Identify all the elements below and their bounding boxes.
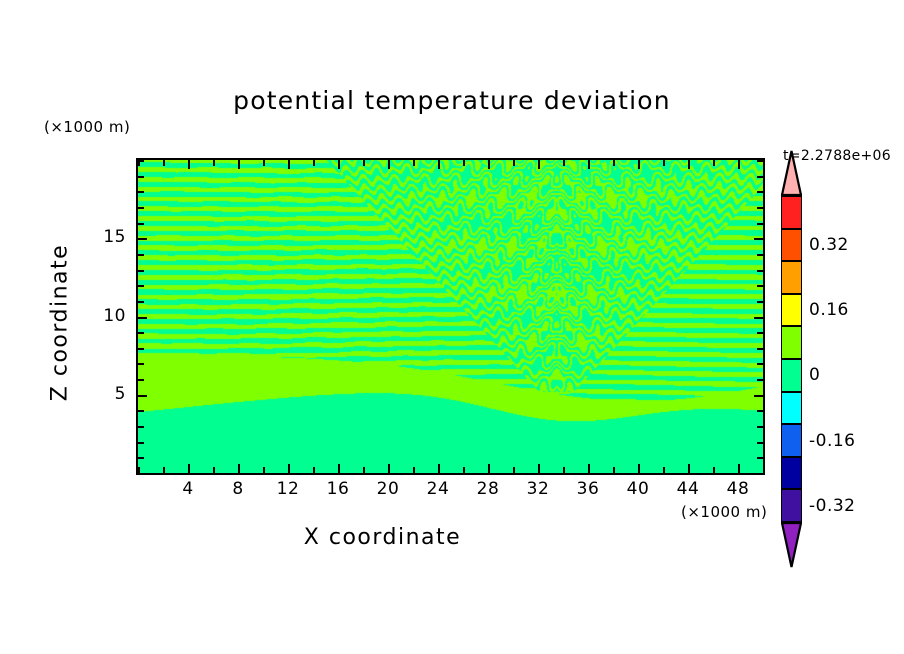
tick-mark — [288, 160, 290, 169]
tick-mark — [313, 160, 315, 166]
tick-mark — [757, 223, 763, 225]
tick-mark — [638, 464, 640, 473]
tick-mark — [757, 457, 763, 459]
tick-mark — [757, 270, 763, 272]
colorbar-band — [781, 424, 802, 457]
x-tick-label: 20 — [368, 479, 408, 499]
x-tick-label: 8 — [218, 479, 258, 499]
tick-mark — [188, 160, 190, 169]
tick-mark — [757, 473, 763, 475]
tick-mark — [688, 464, 690, 473]
tick-mark — [513, 160, 515, 166]
colorbar-tick-label: 0.32 — [809, 235, 849, 255]
tick-mark — [563, 467, 565, 473]
colorbar-tick-label: 0.16 — [809, 300, 849, 320]
tick-mark — [638, 160, 640, 169]
tick-mark — [138, 410, 144, 412]
tick-mark — [138, 160, 144, 162]
tick-mark — [713, 467, 715, 473]
tick-mark — [757, 363, 763, 365]
tick-mark — [463, 160, 465, 166]
tick-mark — [263, 467, 265, 473]
tick-mark — [138, 457, 144, 459]
tick-mark — [663, 160, 665, 166]
tick-mark — [138, 254, 144, 256]
tick-mark — [163, 467, 165, 473]
tick-mark — [438, 464, 440, 473]
colorbar-over-arrow — [781, 150, 802, 196]
contour-field — [138, 160, 763, 473]
colorbar-band — [781, 326, 802, 359]
tick-mark — [763, 467, 765, 473]
tick-mark — [757, 160, 763, 162]
x-axis-title: X coordinate — [0, 525, 765, 550]
tick-mark — [438, 160, 440, 169]
x-tick-label: 36 — [568, 479, 608, 499]
tick-mark — [138, 301, 144, 303]
tick-mark — [338, 160, 340, 169]
tick-mark — [138, 285, 144, 287]
tick-mark — [757, 254, 763, 256]
tick-mark — [488, 160, 490, 169]
tick-mark — [338, 464, 340, 473]
tick-mark — [138, 332, 144, 334]
tick-mark — [757, 379, 763, 381]
tick-mark — [138, 442, 144, 444]
tick-mark — [163, 160, 165, 166]
colorbar-band — [781, 196, 802, 229]
page-title: potential temperature deviation — [0, 86, 904, 115]
colorbar-band — [781, 261, 802, 294]
colorbar-band — [781, 294, 802, 327]
tick-mark — [688, 160, 690, 169]
tick-mark — [463, 467, 465, 473]
tick-mark — [757, 332, 763, 334]
y-tick-label: 15 — [86, 227, 126, 247]
tick-mark — [138, 363, 144, 365]
colorbar-band — [781, 457, 802, 490]
colorbar-tick-label: -0.16 — [809, 431, 856, 451]
tick-mark — [138, 191, 144, 193]
colorbar-band — [781, 392, 802, 425]
z-axis-units-label: (×1000 m) — [44, 118, 130, 136]
tick-mark — [757, 426, 763, 428]
tick-mark — [138, 473, 144, 475]
y-tick-label: 10 — [86, 306, 126, 326]
tick-mark — [757, 191, 763, 193]
x-tick-label: 16 — [318, 479, 358, 499]
y-tick-label: 5 — [86, 384, 126, 404]
tick-mark — [138, 176, 144, 178]
x-tick-label: 44 — [668, 479, 708, 499]
tick-mark — [188, 464, 190, 473]
tick-mark — [588, 160, 590, 169]
tick-mark — [238, 464, 240, 473]
tick-mark — [288, 464, 290, 473]
tick-mark — [513, 467, 515, 473]
tick-mark — [713, 160, 715, 166]
x-tick-label: 48 — [718, 479, 758, 499]
tick-mark — [138, 223, 144, 225]
figure-canvas: potential temperature deviation (×1000 m… — [0, 0, 904, 654]
x-tick-label: 28 — [468, 479, 508, 499]
colorbar — [781, 196, 802, 522]
tick-mark — [588, 464, 590, 473]
tick-mark — [663, 467, 665, 473]
tick-mark — [757, 442, 763, 444]
tick-mark — [754, 395, 763, 397]
colorbar-under-arrow — [781, 522, 802, 568]
tick-mark — [563, 160, 565, 166]
colorbar-band — [781, 489, 802, 522]
tick-mark — [757, 207, 763, 209]
contour-plot-area — [136, 158, 765, 475]
x-tick-label: 24 — [418, 479, 458, 499]
tick-mark — [757, 301, 763, 303]
tick-mark — [138, 270, 144, 272]
tick-mark — [413, 160, 415, 166]
x-tick-label: 40 — [618, 479, 658, 499]
tick-mark — [263, 160, 265, 166]
tick-mark — [613, 467, 615, 473]
x-tick-label: 12 — [268, 479, 308, 499]
tick-mark — [754, 317, 763, 319]
x-axis-units-label: (×1000 m) — [681, 503, 767, 521]
tick-mark — [138, 348, 144, 350]
tick-mark — [757, 285, 763, 287]
tick-mark — [538, 464, 540, 473]
tick-mark — [738, 160, 740, 169]
tick-mark — [363, 160, 365, 166]
tick-mark — [613, 160, 615, 166]
tick-mark — [757, 348, 763, 350]
tick-mark — [213, 467, 215, 473]
colorbar-band — [781, 229, 802, 262]
colorbar-tick-label: 0 — [809, 365, 820, 385]
tick-mark — [138, 379, 144, 381]
tick-mark — [757, 410, 763, 412]
tick-mark — [757, 176, 763, 178]
tick-mark — [413, 467, 415, 473]
tick-mark — [738, 464, 740, 473]
tick-mark — [138, 426, 144, 428]
tick-mark — [363, 467, 365, 473]
colorbar-band — [781, 359, 802, 392]
x-tick-label: 32 — [518, 479, 558, 499]
tick-mark — [138, 317, 147, 319]
x-tick-label: 4 — [168, 479, 208, 499]
tick-mark — [763, 160, 765, 166]
tick-mark — [488, 464, 490, 473]
tick-mark — [538, 160, 540, 169]
tick-mark — [313, 467, 315, 473]
y-axis-title: Z coordinate — [48, 223, 73, 423]
colorbar-tick-label: -0.32 — [809, 496, 856, 516]
tick-mark — [388, 464, 390, 473]
tick-mark — [238, 160, 240, 169]
tick-mark — [138, 238, 147, 240]
tick-mark — [754, 238, 763, 240]
tick-mark — [388, 160, 390, 169]
tick-mark — [138, 207, 144, 209]
tick-mark — [138, 395, 147, 397]
tick-mark — [213, 160, 215, 166]
